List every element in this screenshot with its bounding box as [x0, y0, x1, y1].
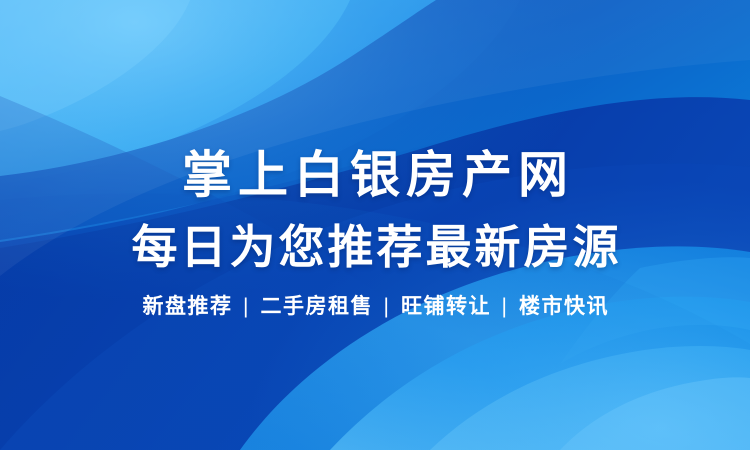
tag-shop-transfer[interactable]: 旺铺转让 [399, 294, 491, 320]
tag-new-properties[interactable]: 新盘推荐 [141, 294, 233, 320]
tag-separator-1: | [233, 294, 259, 320]
tag-separator-2: | [373, 294, 399, 320]
category-tag-list: 新盘推荐 | 二手房租售 | 旺铺转让 | 楼市快讯 [141, 294, 609, 320]
promo-banner: 掌上白银房产网 每日为您推荐最新房源 新盘推荐 | 二手房租售 | 旺铺转让 |… [0, 0, 750, 450]
tag-secondhand-rent-sale[interactable]: 二手房租售 [259, 294, 373, 320]
banner-content: 掌上白银房产网 每日为您推荐最新房源 新盘推荐 | 二手房租售 | 旺铺转让 |… [0, 0, 750, 450]
tag-market-news[interactable]: 楼市快讯 [517, 294, 609, 320]
tag-separator-3: | [491, 294, 517, 320]
page-title: 掌上白银房产网 [176, 148, 574, 202]
banner-subtitle: 每日为您推荐最新房源 [129, 222, 622, 272]
